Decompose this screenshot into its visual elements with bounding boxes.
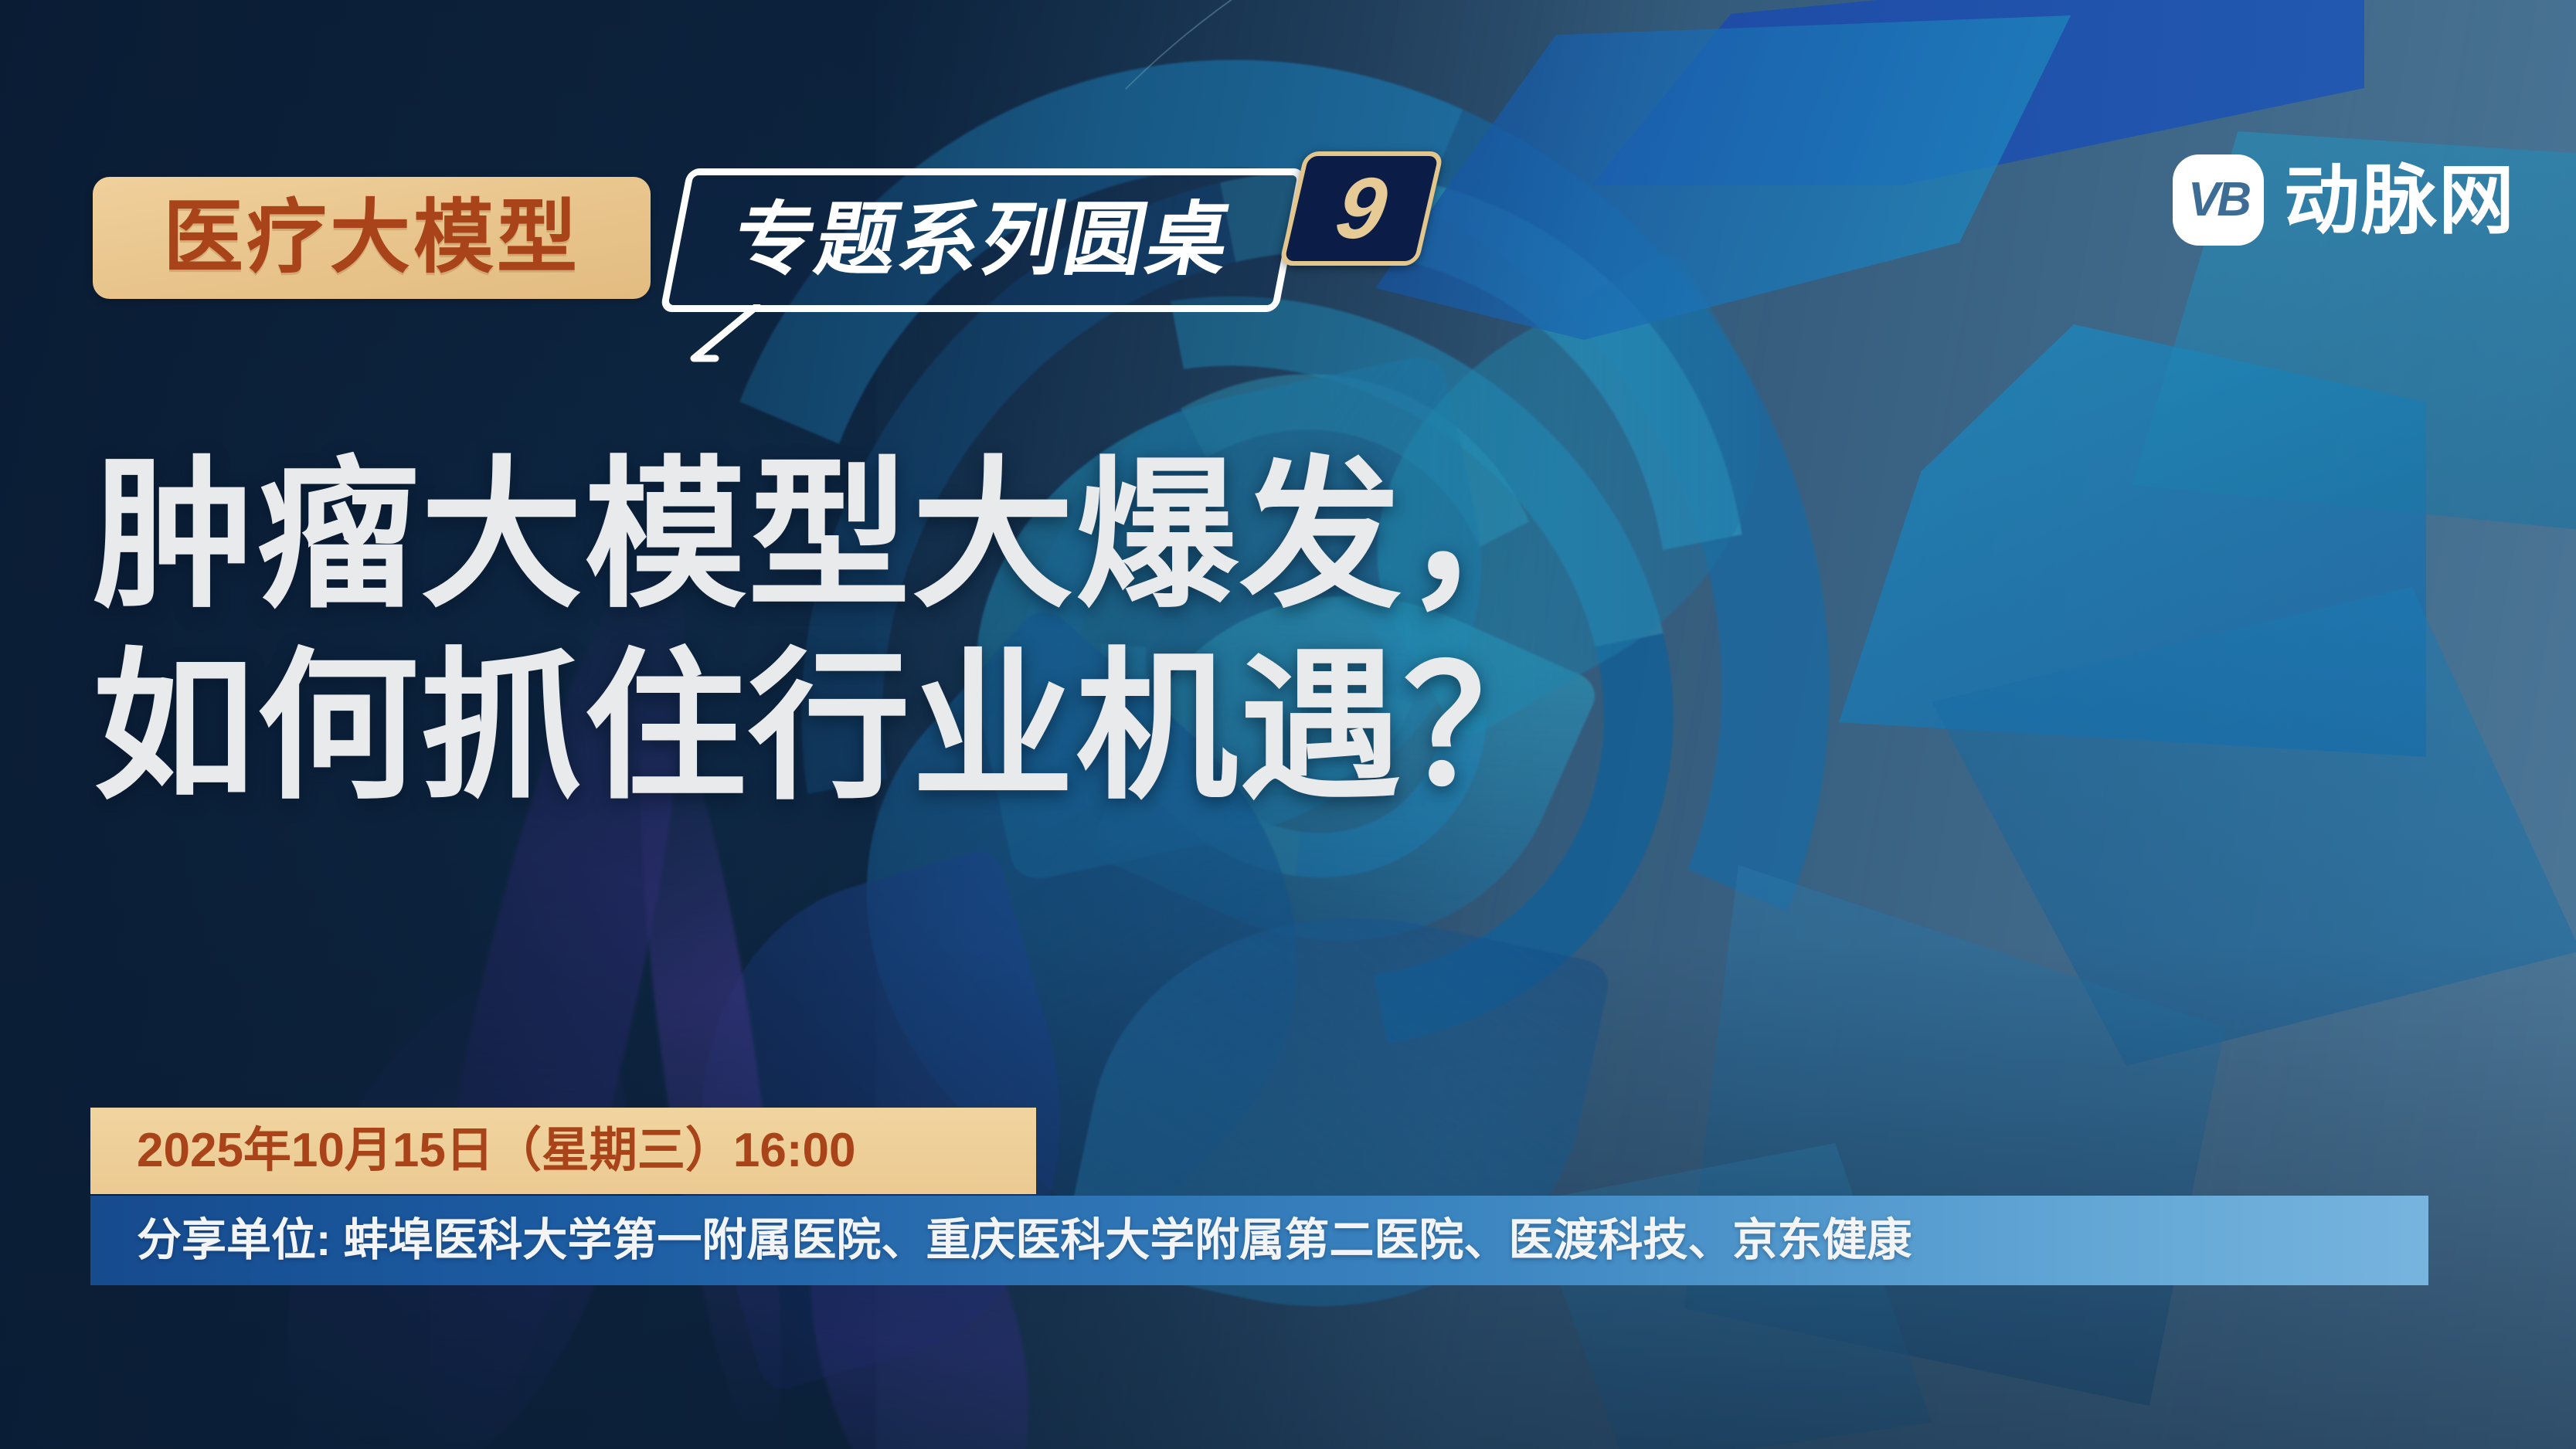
topic-badge: 医疗大模型 — [93, 177, 651, 299]
vb-logo-text: VB — [2188, 176, 2248, 224]
schedule-banner: 2025年10月15日（星期三）16:00 — [90, 1108, 1036, 1194]
episode-number-badge: 9 — [1279, 151, 1444, 266]
series-label: 专题系列圆桌 — [660, 168, 1306, 312]
participants-label: 分享单位: 蚌埠医科大学第一附属医院、重庆医科大学附属第二医院、医渡科技、京东健… — [137, 1218, 1912, 1263]
page-title: 肿瘤大模型大爆发， 如何抓住行业机遇？ — [93, 440, 2102, 823]
vb-logo-icon: VB — [2173, 154, 2264, 246]
speech-bubble-tail-icon — [683, 304, 776, 368]
topic-badge-label: 医疗大模型 — [163, 198, 580, 278]
brand-logo: VB 动脉网 — [2173, 154, 2516, 246]
episode-number-label: 9 — [1330, 165, 1392, 252]
brand-name-label: 动脉网 — [2284, 162, 2516, 238]
series-speech-bubble: 专题系列圆桌 — [674, 168, 1292, 312]
schedule-datetime-label: 2025年10月15日（星期三）16:00 — [137, 1127, 855, 1175]
participants-banner: 分享单位: 蚌埠医科大学第一附属医院、重庆医科大学附属第二医院、医渡科技、京东健… — [90, 1196, 2428, 1285]
title-line-1: 肿瘤大模型大爆发， — [93, 440, 2102, 632]
title-line-2: 如何抓住行业机遇？ — [93, 632, 2102, 823]
poster-canvas: 医疗大模型 专题系列圆桌 9 VB 动脉网 肿瘤大模型大爆发， 如何抓住行业机遇… — [0, 0, 2576, 1449]
